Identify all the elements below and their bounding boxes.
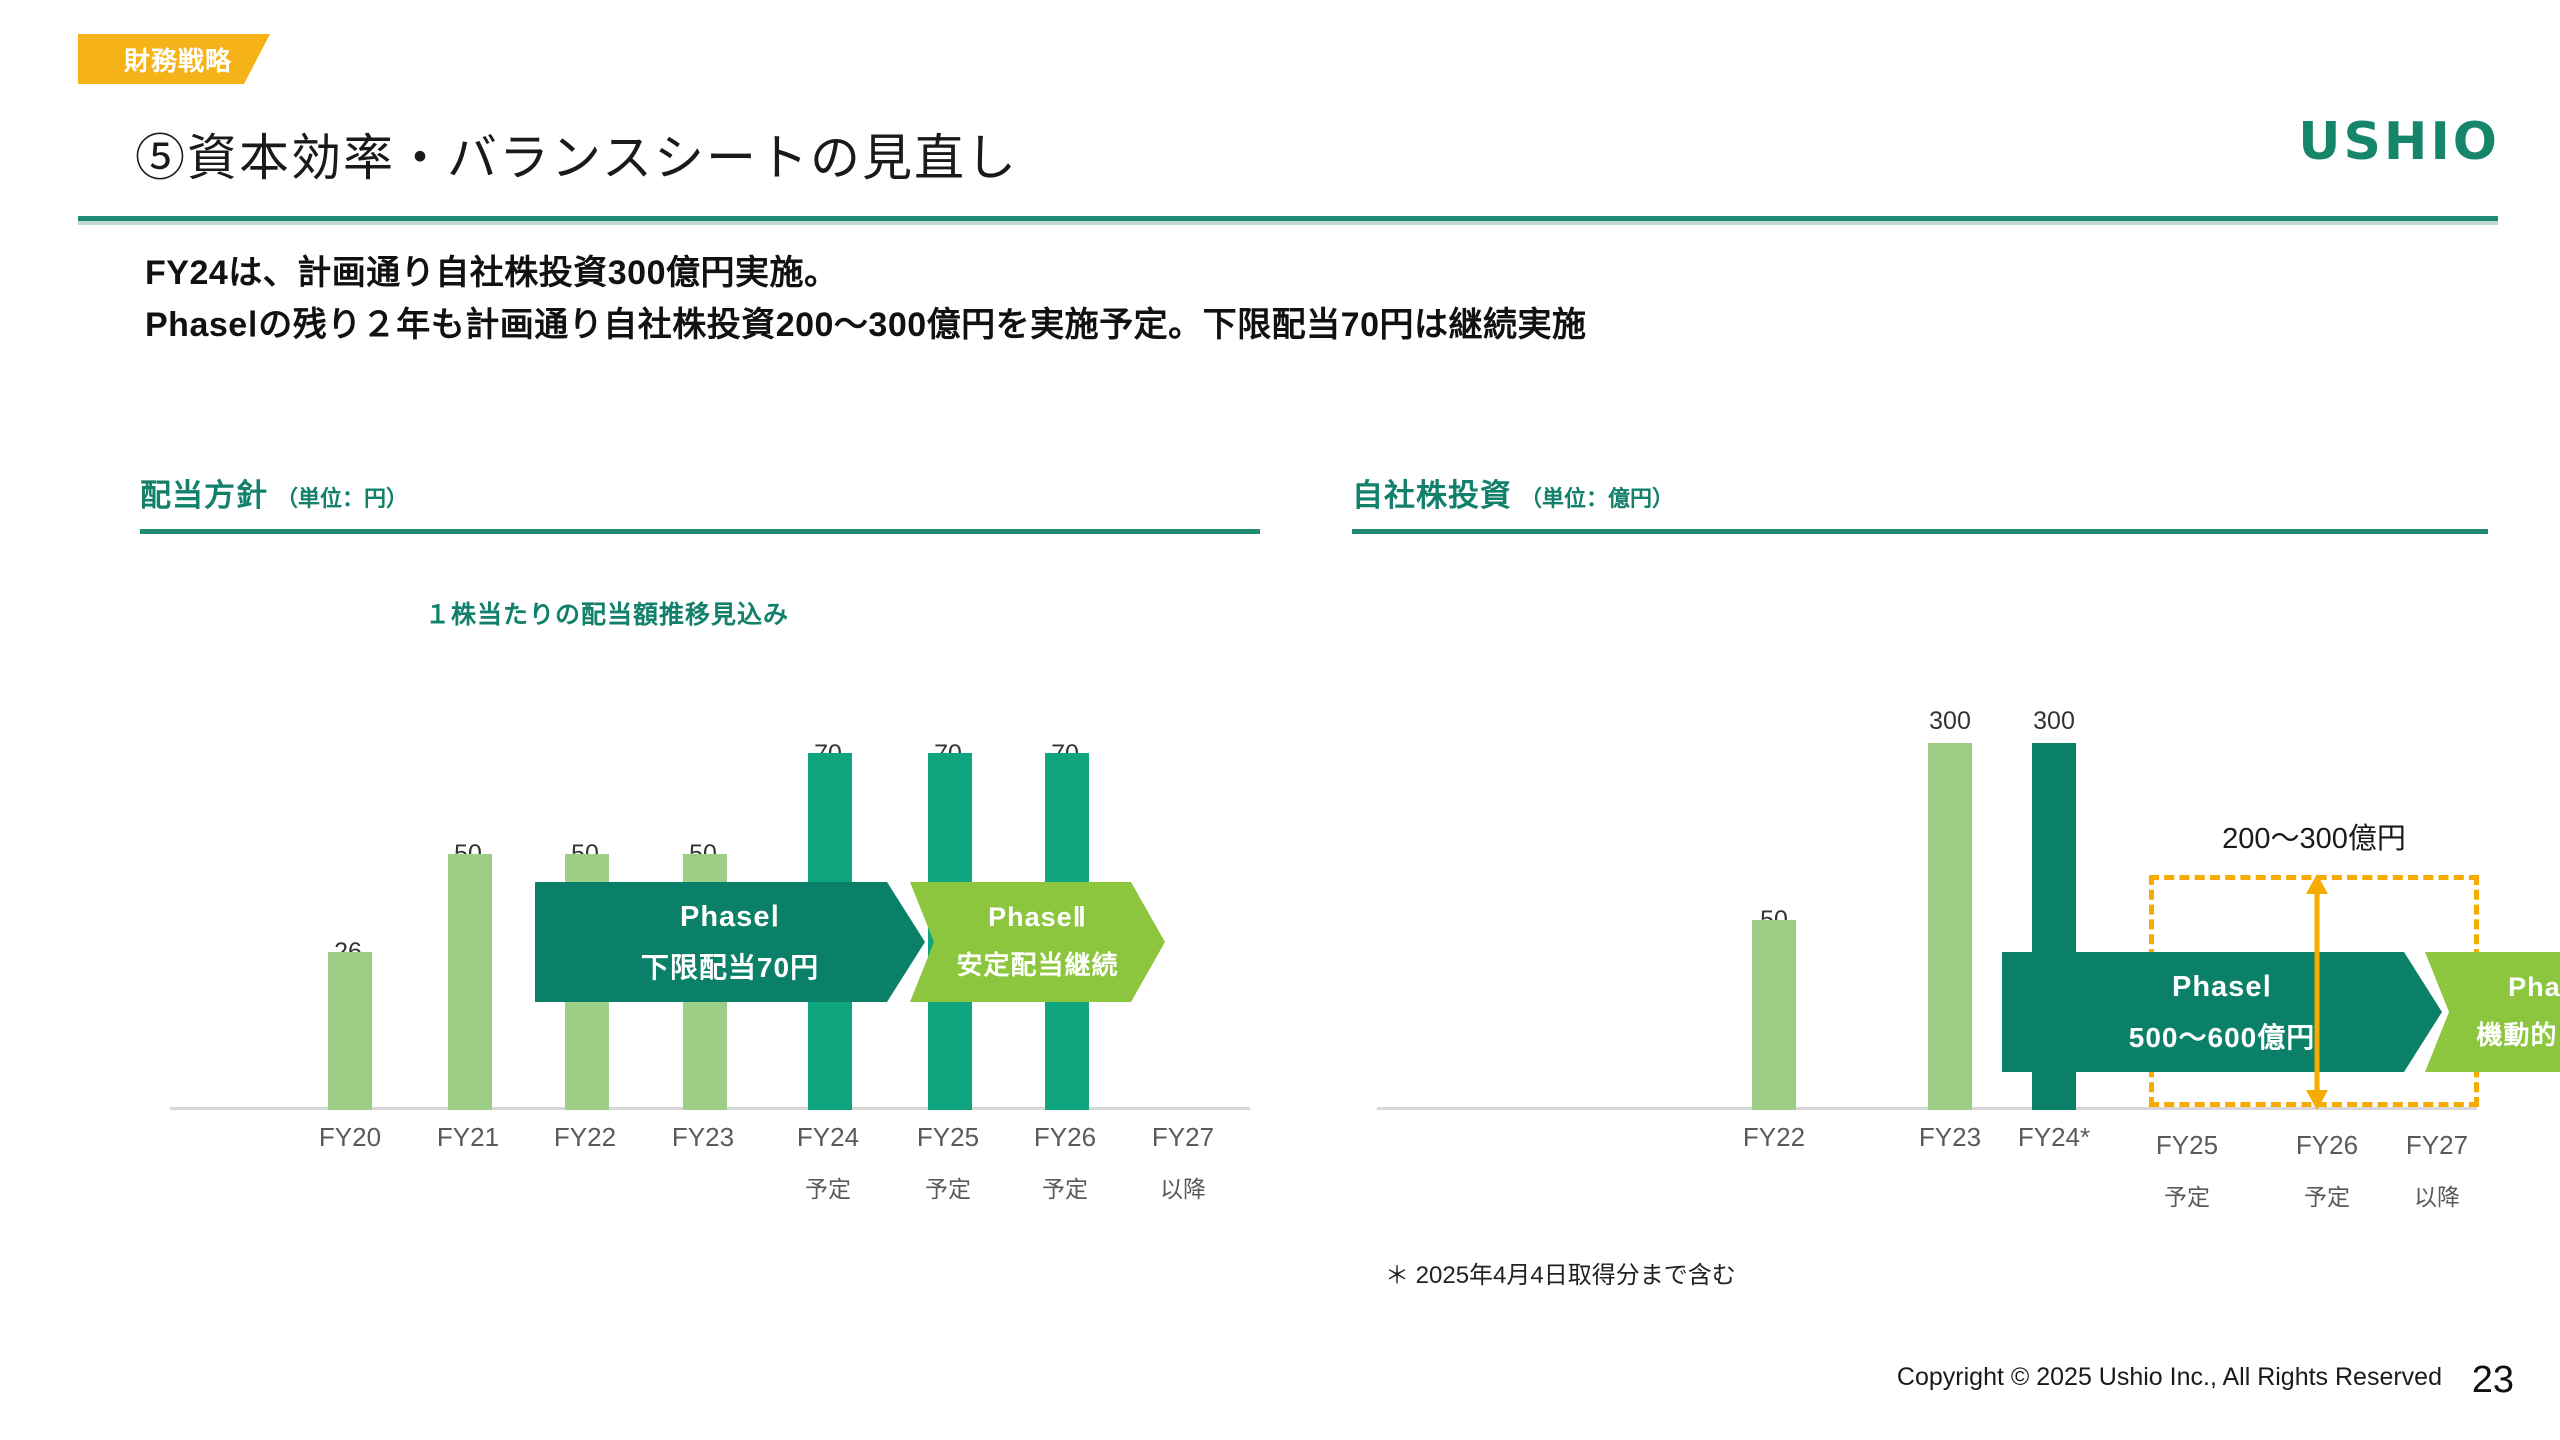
right-section-unit: （単位：億円） [1520,481,1674,513]
category-tag: 財務戦略 [78,34,270,84]
left-phase1-detail: 下限配当70円 [641,946,819,986]
left-section-divider [140,529,1260,534]
bar-fy20 [328,952,372,1110]
left-chart-subtitle: １株当たりの配当額推移見込み [425,595,789,631]
header-divider-soft [78,221,2498,225]
xlabel-fy24: FY24 [783,1122,873,1153]
xlabel-fy26: FY26 [1020,1122,1110,1153]
right-section: 自社株投資 （単位：億円） [1352,470,2488,534]
buyback-range-arrow [2297,872,2337,1112]
left-phase2-label: PhaseⅡ [988,902,1087,933]
xsub-fy27-buyback: 以降 [2387,1178,2487,1212]
xlabel-fy25: FY25 [903,1122,993,1153]
lead-text: FY24は、計画通り自社株投資300億円実施。 PhaseⅠの残り２年も計画通り… [145,248,2445,351]
xlabel-fy22: FY22 [540,1122,630,1153]
xlabel-fy21: FY21 [423,1122,513,1153]
left-phase2-banner: PhaseⅡ 安定配当継続 [910,882,1165,1002]
page-number: 23 [2472,1359,2514,1402]
xlabel-fy27-buyback: FY27 [2387,1130,2487,1161]
xlabel-fy23: FY23 [658,1122,748,1153]
xsub-fy27: 以降 [1138,1170,1228,1204]
dividend-chart: 26 50 50 50 70 70 70 PhaseⅠ 下限配当70円 Phas… [150,660,1280,1110]
left-section-header: 配当方針 （単位：円） [140,470,1260,515]
xsub-fy25-buyback: 予定 [2137,1178,2237,1212]
copyright-text: Copyright © 2025 Ushio Inc., All Rights … [1897,1363,2442,1392]
xlabel-fy26-buyback: FY26 [2277,1130,2377,1161]
xsub-fy24: 予定 [783,1170,873,1204]
buyback-footnote: ＊ 2025年4月4日取得分まで含む [1385,1255,1736,1290]
xlabel-fy23-buyback: FY23 [1900,1122,2000,1153]
right-phase1-detail: 500～600億円 [2129,1016,2315,1056]
bar-fy23-buyback [1928,743,1972,1110]
xsub-fy26-buyback: 予定 [2277,1178,2377,1212]
xlabel-fy25-buyback: FY25 [2137,1130,2237,1161]
buyback-chart: 50 300 300 200～300億円 PhaseⅠ 500～600億円 Ph… [1352,660,2502,1110]
xlabel-fy24-buyback: FY24* [2004,1122,2104,1153]
left-section: 配当方針 （単位：円） [140,470,1260,534]
xsub-fy26: 予定 [1020,1170,1110,1204]
left-phase1-label: PhaseⅠ [680,899,780,934]
page-title: ⑤資本効率・バランスシートの見直し [135,118,1018,190]
xlabel-fy27: FY27 [1138,1122,1228,1153]
bar-value-fy23-buyback: 300 [1900,707,2000,736]
right-section-header: 自社株投資 （単位：億円） [1352,470,2488,515]
right-phase2-detail: 機動的に実施 [2476,1015,2560,1052]
ushio-logo: USHIO [2298,112,2500,172]
left-phase1-banner: PhaseⅠ 下限配当70円 [535,882,925,1002]
xlabel-fy20: FY20 [305,1122,395,1153]
left-phase2-detail: 安定配当継続 [956,945,1118,982]
lead-line-1: FY24は、計画通り自社株投資300億円実施。 [145,248,2445,300]
left-section-unit: （単位：円） [276,481,408,513]
right-phase1-label: PhaseⅠ [2172,969,2272,1004]
xlabel-fy22-buyback: FY22 [1724,1122,1824,1153]
right-section-divider [1352,529,2488,534]
xsub-fy25: 予定 [903,1170,993,1204]
right-phase1-banner: PhaseⅠ 500～600億円 [2002,952,2442,1072]
bar-value-fy24-buyback: 300 [2004,707,2104,736]
right-phase2-label: PhaseⅡ [2508,972,2560,1003]
category-tag-label: 財務戦略 [124,41,232,78]
right-section-title: 自社株投資 [1352,470,1512,515]
bar-fy21 [448,854,492,1110]
bar-fy22-buyback [1752,920,1796,1110]
buyback-range-note: 200～300億円 [2164,815,2464,857]
left-section-title: 配当方針 [140,470,268,515]
lead-line-2: PhaseⅠの残り２年も計画通り自社株投資200～300億円を実施予定。下限配当… [145,300,2445,352]
